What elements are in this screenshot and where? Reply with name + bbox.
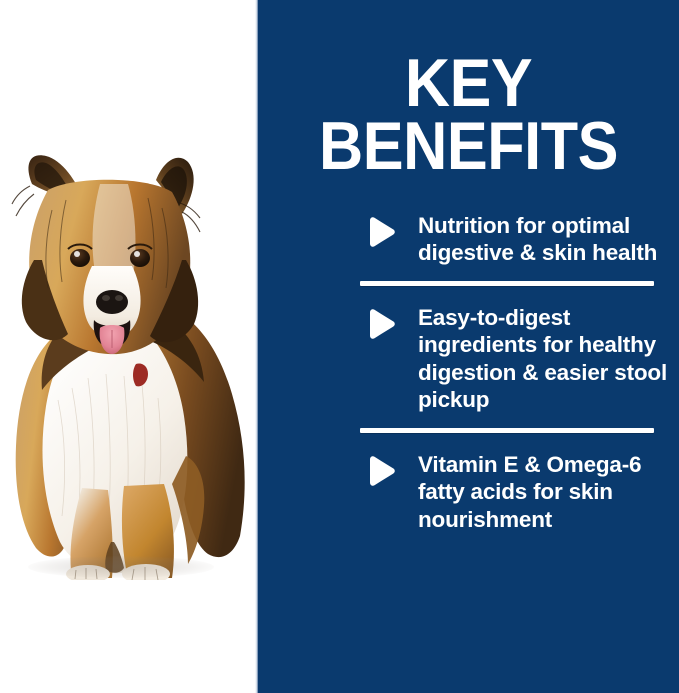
dog-nostril-right (115, 295, 123, 301)
shetland-sheepdog-illustration (0, 150, 258, 580)
key-benefits-poster: KEY BENEFITS Nutrition for optimal diges… (0, 0, 679, 693)
dog-eye-right-glint (134, 251, 140, 257)
play-triangle-icon (364, 216, 398, 248)
dog-nose (96, 290, 128, 314)
page-title-line-2: BENEFITS (279, 115, 658, 178)
play-triangle-icon (364, 455, 398, 487)
benefit-text: Vitamin E & Omega-6 fatty acids for skin… (418, 451, 668, 533)
page-title-line-1: KEY (275, 52, 662, 115)
list-item: Nutrition for optimal digestive & skin h… (360, 212, 668, 267)
page-title: KEY BENEFITS (258, 52, 679, 177)
play-triangle-icon (364, 308, 398, 340)
benefit-divider (360, 281, 654, 286)
list-item: Easy-to-digest ingredients for healthy d… (360, 304, 668, 414)
dog-ground-shadow (28, 556, 214, 578)
dog-eye-left (70, 249, 90, 267)
benefit-divider (360, 428, 654, 433)
key-benefits-panel: KEY BENEFITS Nutrition for optimal diges… (258, 0, 679, 693)
list-item: Vitamin E & Omega-6 fatty acids for skin… (360, 451, 668, 533)
benefits-list: Nutrition for optimal digestive & skin h… (360, 212, 668, 533)
dog-nostril-left (102, 295, 110, 301)
product-photo-pane (0, 0, 258, 693)
benefit-text: Easy-to-digest ingredients for healthy d… (418, 304, 668, 414)
benefit-text: Nutrition for optimal digestive & skin h… (418, 212, 668, 267)
dog-eye-left-glint (74, 251, 80, 257)
dog-eye-right (130, 249, 150, 267)
dog-photo (0, 0, 258, 693)
